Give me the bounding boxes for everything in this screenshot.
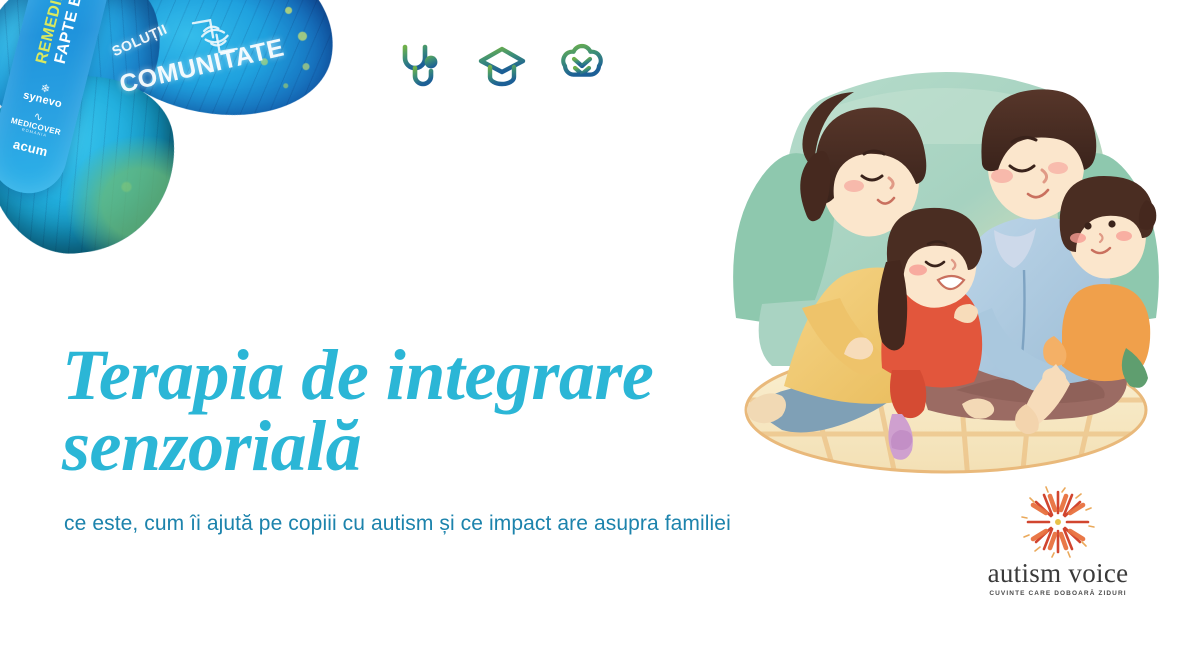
father-blush-right (1048, 162, 1068, 174)
sponsor-sub: ROMANIA (0, 122, 72, 144)
graduation-cap-icon (476, 40, 528, 92)
sponsor-medicover: ∿ MEDICOVER ROMANIA (0, 103, 76, 144)
wing-veins (0, 0, 179, 146)
flower-icon: ❄ (7, 75, 83, 104)
page-title-line2: senzorială (62, 411, 762, 482)
wing-text-solutii: SOLUȚII (109, 21, 169, 60)
son-blush-right (1116, 231, 1132, 241)
poster-canvas: CO SOLUȚII PENTRU COMUNITATE REMEDII PRI… (0, 0, 1200, 650)
logo-wordmark: autism voice (963, 560, 1153, 587)
family-illustration-svg (706, 18, 1186, 488)
page-title: Terapia de integrare senzorială (62, 340, 762, 481)
butterfly-wing-upper-left (0, 0, 179, 146)
autism-voice-logo: autism voice CUVINTE CARE DOBOARĂ ZIDURI (963, 486, 1153, 594)
page-subtitle: ce este, cum îi ajută pe copiii cu autis… (64, 512, 884, 536)
pillar-pictograms (396, 40, 608, 92)
tree-icon (556, 40, 608, 92)
logo-tagline: CUVINTE CARE DOBOARĂ ZIDURI (963, 590, 1153, 597)
butterfly-wing-upper-right (89, 0, 348, 135)
campaign-pack-label: REMEDII PRIN FAPTE BUNE ❄ synevo ∿ MEDIC… (0, 0, 121, 201)
son-eye-right (1108, 220, 1115, 227)
sponsor-name: synevo (4, 86, 80, 115)
sponsor-name: acum (0, 132, 69, 163)
mother-blush (844, 180, 864, 192)
pack-slogan-line1: REMEDII PRIN (33, 0, 77, 66)
son-blush-left (1070, 233, 1086, 243)
father-blush-left (991, 169, 1013, 183)
son-eye-left (1084, 222, 1091, 229)
wing-veins (89, 0, 348, 135)
starburst-icon (1012, 486, 1104, 558)
page-title-line1: Terapia de integrare (62, 335, 653, 415)
sponsor-acum: acum (0, 132, 69, 163)
wing-text-comunitate: COMUNITATE (117, 33, 287, 99)
sponsor-logos: ❄ synevo ∿ MEDICOVER ROMANIA acum (0, 68, 85, 170)
pack-slogan-line2: FAPTE BUNE (52, 0, 94, 66)
family-on-rug-illustration (706, 18, 1186, 488)
sponsor-synevo: ❄ synevo (4, 75, 83, 115)
sponsor-name: MEDICOVER (0, 114, 74, 140)
daughter-blush (909, 265, 927, 276)
butterfly-campaign-badge: CO SOLUȚII PENTRU COMUNITATE REMEDII PRI… (0, 0, 324, 286)
butterfly-wing-lower-left (0, 65, 186, 263)
stethoscope-icon (396, 40, 448, 92)
swoosh-icon: ∿ (0, 103, 76, 132)
pack-slogan: REMEDII PRIN FAPTE BUNE (33, 0, 97, 70)
community-hands-icon (181, 3, 248, 70)
wing-veins (0, 65, 186, 263)
